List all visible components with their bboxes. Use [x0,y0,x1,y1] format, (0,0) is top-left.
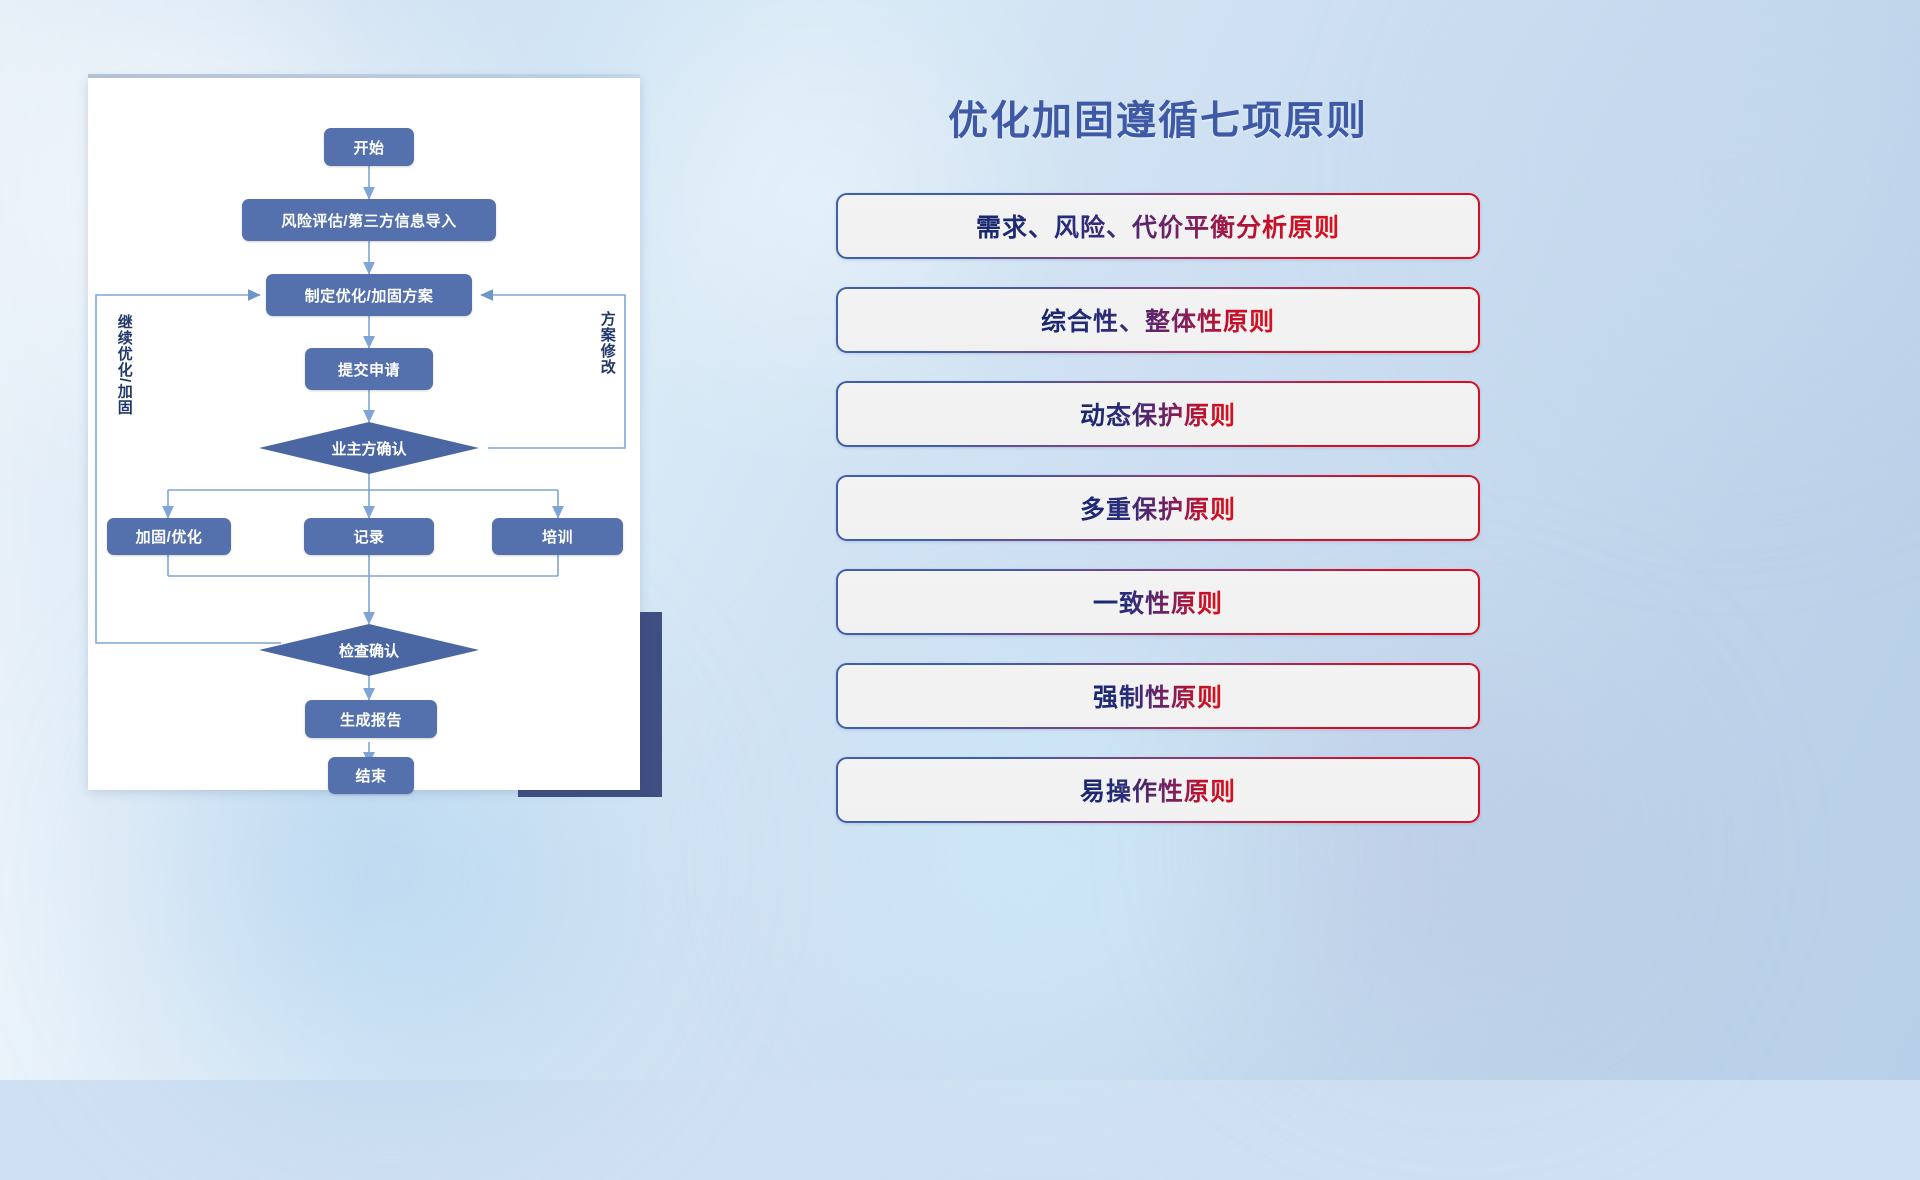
flow-edge-label-continue-optimize: 继续优化/加固 [116,314,132,450]
principle-card-6[interactable]: 强制性原则 [836,663,1480,729]
flowchart-panel: 开始 风险评估/第三方信息导入 制定优化/加固方案 提交申请 业主方确认 加固/… [88,78,640,790]
principle-card-1[interactable]: 需求、风险、代价平衡分析原则 [836,193,1480,259]
principle-card-5[interactable]: 一致性原则 [836,569,1480,635]
flow-node-plan[interactable]: 制定优化/加固方案 [266,274,472,316]
flow-node-training[interactable]: 培训 [492,518,623,555]
flow-edge-label-plan-revision: 方案修改 [599,311,615,415]
principles-list: 需求、风险、代价平衡分析原则 综合性、整体性原则 动态保护原则 多重保护原则 一… [836,193,1480,851]
principle-card-7[interactable]: 易操作性原则 [836,757,1480,823]
principle-card-2[interactable]: 综合性、整体性原则 [836,287,1480,353]
flow-node-end[interactable]: 结束 [328,757,414,794]
principle-label: 需求、风险、代价平衡分析原则 [976,208,1340,244]
principle-label: 强制性原则 [1093,678,1223,714]
flow-node-submit-application[interactable]: 提交申请 [305,348,433,390]
principle-label: 易操作性原则 [1080,772,1236,808]
principle-label: 一致性原则 [1093,584,1223,620]
flow-node-generate-report[interactable]: 生成报告 [305,700,437,738]
principle-label: 多重保护原则 [1080,490,1236,526]
flow-node-risk-assessment[interactable]: 风险评估/第三方信息导入 [242,199,496,241]
principle-card-4[interactable]: 多重保护原则 [836,475,1480,541]
flow-node-reinforce-optimize[interactable]: 加固/优化 [107,518,231,555]
principle-card-3[interactable]: 动态保护原则 [836,381,1480,447]
principle-label: 综合性、整体性原则 [1041,302,1275,338]
flow-node-record[interactable]: 记录 [304,518,434,555]
flow-node-start[interactable]: 开始 [324,128,414,166]
principle-label: 动态保护原则 [1080,396,1236,432]
flowchart-canvas: 开始 风险评估/第三方信息导入 制定优化/加固方案 提交申请 业主方确认 加固/… [88,78,640,790]
principles-title: 优化加固遵循七项原则 [836,88,1480,146]
